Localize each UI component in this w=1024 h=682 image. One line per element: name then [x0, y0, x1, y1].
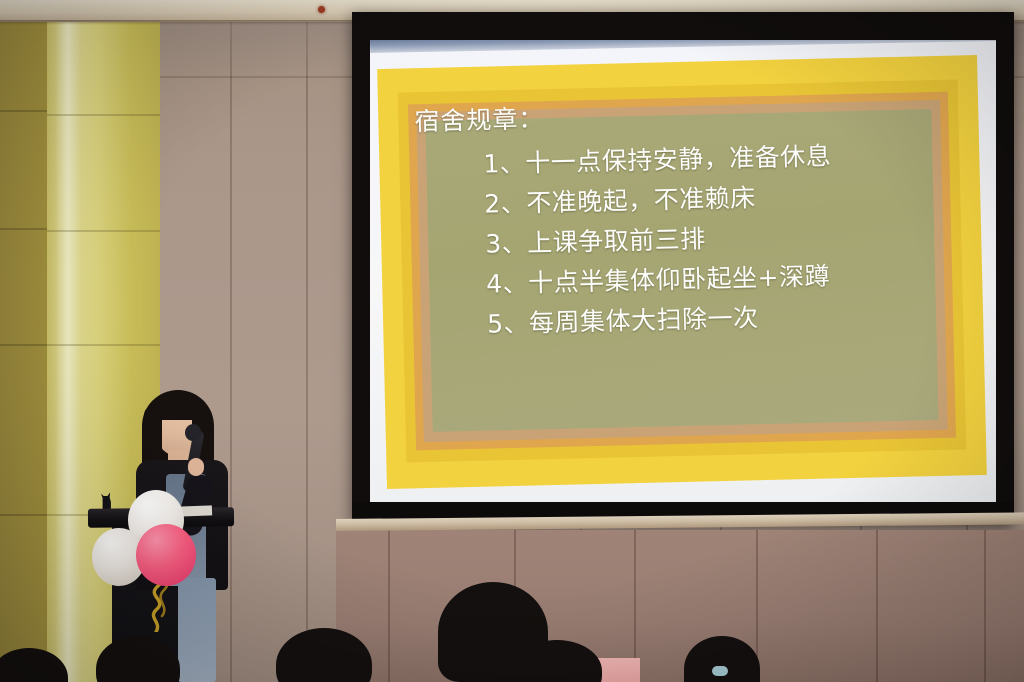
- slide-rules-list: 1、十一点保持安静，准备休息 2、不准晚起，不准赖床 3、上课争取前三排 4、十…: [483, 133, 974, 344]
- ceiling-indicator-light-icon: [318, 6, 325, 13]
- slide-title: 宿舍规章：: [414, 99, 545, 138]
- pink-balloon: [136, 524, 196, 586]
- hair-tie: [712, 666, 728, 676]
- projection-top-band: [370, 40, 996, 53]
- presenter-hand: [188, 458, 204, 476]
- presentation-slide: 宿舍规章： 1、十一点保持安静，准备休息 2、不准晚起，不准赖床 3、上课争取前…: [377, 55, 987, 489]
- screen-surface: 宿舍规章： 1、十一点保持安静，准备休息 2、不准晚起，不准赖床 3、上课争取前…: [370, 40, 996, 502]
- projector-screen: 宿舍规章： 1、十一点保持安静，准备休息 2、不准晚起，不准赖床 3、上课争取前…: [352, 12, 1014, 524]
- presenter-legs: [178, 578, 216, 682]
- slide-text-layer: 宿舍规章： 1、十一点保持安静，准备休息 2、不准晚起，不准赖床 3、上课争取前…: [377, 55, 987, 489]
- photo-scene: 宿舍规章： 1、十一点保持安静，准备休息 2、不准晚起，不准赖床 3、上课争取前…: [0, 0, 1024, 682]
